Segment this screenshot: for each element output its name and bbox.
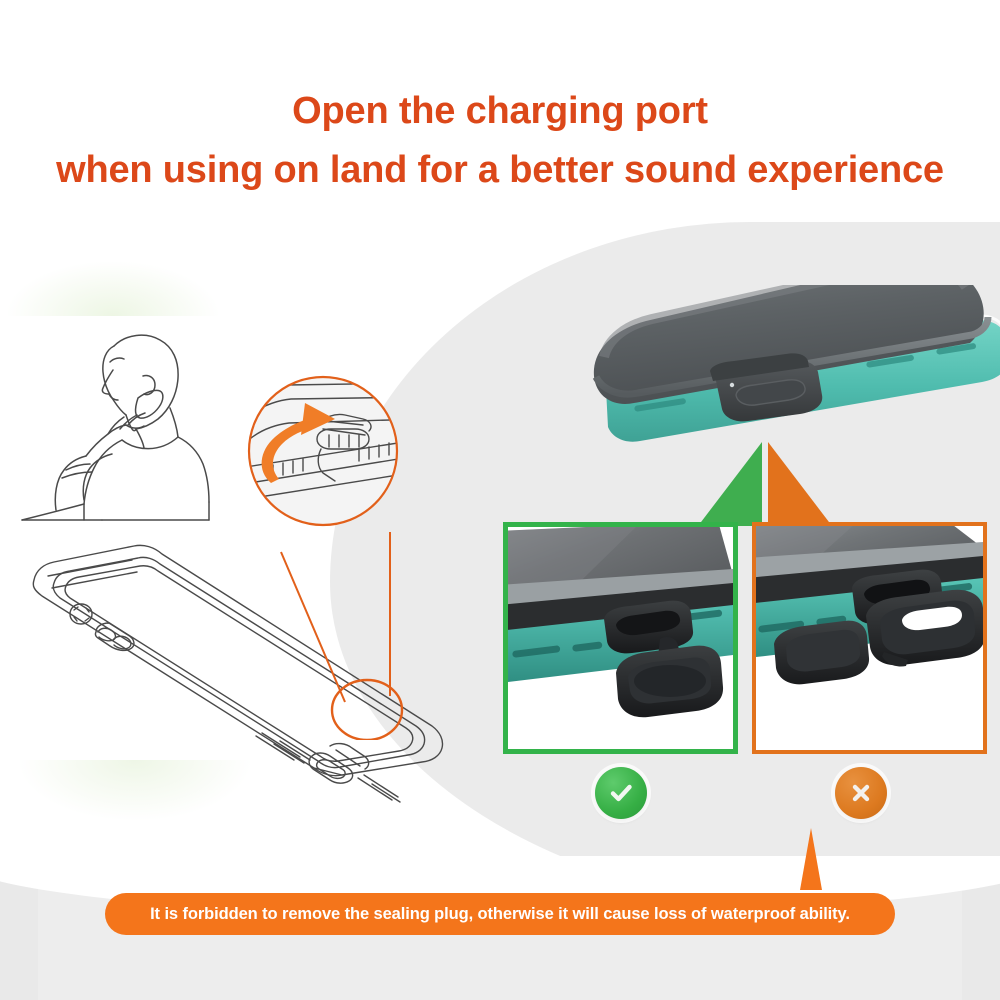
orange-arrow-bad: [768, 442, 832, 526]
check-icon: [606, 778, 636, 808]
cross-icon: [846, 778, 876, 808]
person-holding-phone-icon: [10, 288, 260, 538]
cross-badge: [835, 767, 887, 819]
split-direction-arrows: [690, 440, 840, 530]
plug-removed-photo: [752, 522, 987, 754]
sealing-plug-detached-small: [774, 621, 869, 685]
magnifier-detail-circle: [243, 373, 403, 533]
plug-attached-photo: [503, 522, 738, 754]
sealing-plug-detached-cap: [866, 590, 983, 667]
banner-pointer-arrow: [795, 828, 827, 890]
sealed-charging-port: [710, 353, 822, 421]
headline-line-1: Open the charging port: [0, 82, 1000, 141]
warning-text: It is forbidden to remove the sealing pl…: [150, 905, 850, 924]
headline: Open the charging port when using on lan…: [0, 82, 1000, 200]
infographic-canvas: Open the charging port when using on lan…: [0, 0, 1000, 1000]
green-arrow-good: [698, 442, 762, 526]
headline-line-2: when using on land for a better sound ex…: [0, 141, 1000, 200]
warning-banner: It is forbidden to remove the sealing pl…: [105, 893, 895, 935]
check-badge: [595, 767, 647, 819]
phone-case-line-art: [12, 528, 462, 818]
